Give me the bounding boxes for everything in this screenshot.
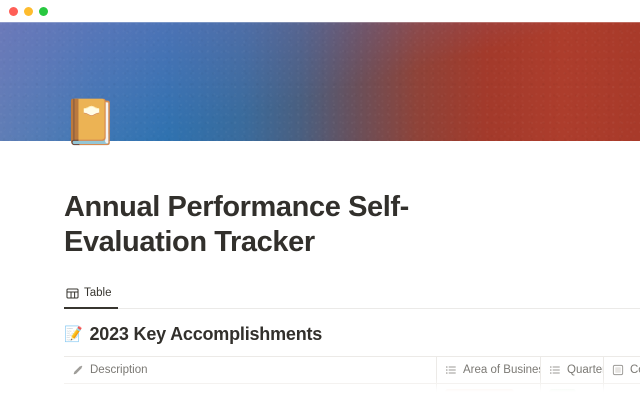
database-title-row[interactable]: 📝 2023 Key Accomplishments: [64, 324, 640, 345]
table-header-row: Description Area of Business: [64, 357, 640, 384]
database-title: 2023 Key Accomplishments: [89, 324, 322, 345]
tag-quarter: Q1: [549, 389, 576, 400]
title-pencil-icon: [72, 364, 84, 376]
column-header-area-label: Area of Business: [463, 364, 541, 376]
database-view-tabs: Table: [64, 285, 640, 309]
column-header-completed-label: Com: [630, 364, 640, 376]
cover-top-edge: [0, 22, 640, 23]
checkbox-icon: [612, 364, 624, 376]
column-header-description[interactable]: Description: [64, 357, 437, 383]
notion-page-window: 📔 Annual Performance Self-Evaluation Tra…: [0, 0, 640, 400]
maximize-window-button[interactable]: [39, 7, 48, 16]
database-emoji-icon: 📝: [64, 327, 82, 342]
tag-area: Productivity: [445, 389, 514, 400]
page-body: 📔 Annual Performance Self-Evaluation Tra…: [0, 141, 640, 400]
tab-table[interactable]: Table: [64, 285, 118, 309]
cell-completed[interactable]: March 7: [604, 384, 640, 400]
column-header-completed[interactable]: Com: [604, 357, 640, 383]
cell-description-text: Led process improvement project which ad…: [72, 392, 341, 400]
column-header-quarter-label: Quarter: [567, 364, 604, 376]
minimize-window-button[interactable]: [24, 7, 33, 16]
tab-table-label: Table: [84, 287, 112, 299]
table-row[interactable]: Led process improvement project which ad…: [64, 384, 640, 400]
cell-area-of-business[interactable]: Productivity: [437, 384, 541, 400]
multi-select-icon: [445, 364, 457, 376]
multi-select-icon: [549, 364, 561, 376]
page-icon[interactable]: 📔: [63, 101, 118, 145]
page-content-column: 📔 Annual Performance Self-Evaluation Tra…: [0, 190, 640, 400]
page-title[interactable]: Annual Performance Self-Evaluation Track…: [64, 190, 534, 261]
column-header-area-of-business[interactable]: Area of Business: [437, 357, 541, 383]
database-table: Description Area of Business: [64, 356, 640, 400]
column-header-quarter[interactable]: Quarter: [541, 357, 604, 383]
table-icon: [66, 287, 79, 300]
cell-completed-text: March 7: [612, 392, 640, 400]
close-window-button[interactable]: [9, 7, 18, 16]
column-header-description-label: Description: [90, 364, 148, 376]
cell-quarter[interactable]: Q1: [541, 384, 604, 400]
window-titlebar: [0, 0, 640, 22]
cell-description[interactable]: Led process improvement project which ad…: [64, 384, 437, 400]
